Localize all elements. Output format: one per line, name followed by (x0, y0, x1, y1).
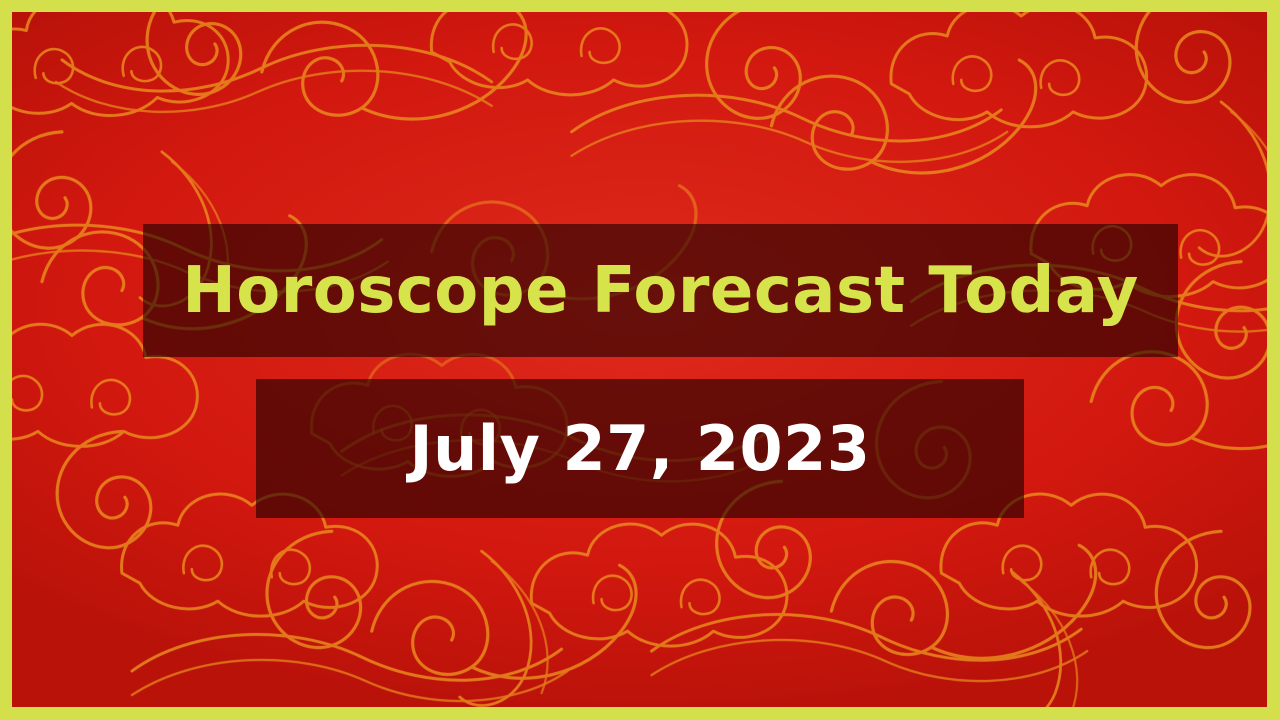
title-banner: Horoscope Forecast Today (143, 224, 1178, 357)
cloud-swirl-pattern-icon (12, 12, 1267, 707)
poster-canvas: Horoscope Forecast Today July 27, 2023 (12, 12, 1267, 707)
date-text: July 27, 2023 (410, 418, 871, 480)
page-title: Horoscope Forecast Today (182, 259, 1139, 323)
poster-frame: Horoscope Forecast Today July 27, 2023 (0, 0, 1280, 720)
date-banner: July 27, 2023 (256, 379, 1024, 518)
